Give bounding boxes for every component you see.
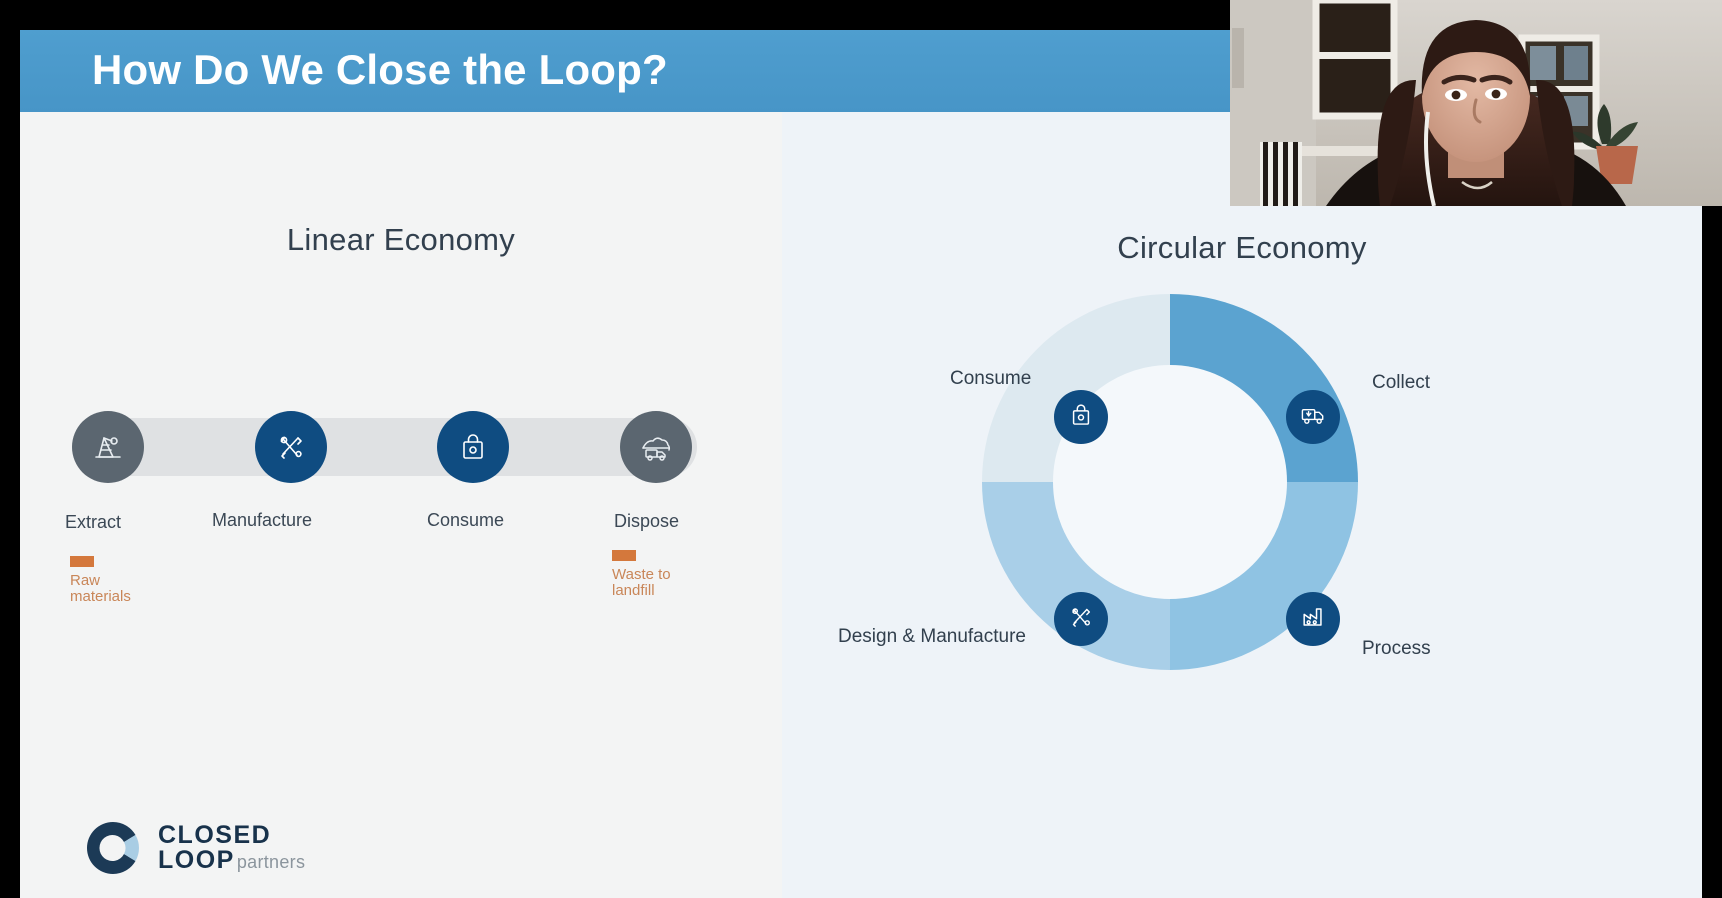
annotation-swatch [70, 556, 94, 567]
linear-economy-heading: Linear Economy [20, 222, 782, 258]
stage-node-extract[interactable] [72, 411, 144, 483]
ring-label-consume: Consume [950, 368, 1031, 390]
tools-icon [273, 429, 309, 465]
annotation-swatch [612, 550, 636, 561]
logo-line-closed: CLOSED [158, 823, 305, 848]
annotation-raw-materials-text: Raw materials [70, 573, 131, 605]
oil-derrick-icon [90, 429, 126, 465]
logo-wordmark: CLOSED LOOP partners [158, 823, 305, 873]
shopping-bag-icon [456, 430, 490, 464]
linear-economy-panel: Linear Economy [20, 112, 782, 898]
ring-label-design-manufacture: Design & Manufacture [838, 626, 1026, 648]
landfill-truck-icon [637, 428, 675, 466]
linear-flow-track [72, 418, 697, 476]
recycling-truck-icon [1298, 400, 1328, 435]
ring-label-collect: Collect [1372, 372, 1430, 394]
stage-label-consume: Consume [427, 510, 504, 531]
ring-node-process[interactable] [1286, 592, 1340, 646]
closed-loop-c-mark-icon [82, 817, 144, 879]
presenter-video-tile[interactable] [1230, 0, 1722, 206]
factory-icon [1298, 602, 1328, 637]
ring-node-collect[interactable] [1286, 390, 1340, 444]
logo-line-loop: LOOP [158, 848, 235, 873]
shopping-bag-icon [1067, 401, 1095, 434]
annotation-waste-to-landfill-text: Waste to landfill [612, 567, 671, 599]
page-title: How Do We Close the Loop? [92, 46, 668, 94]
logo-line-loop-partners: LOOP partners [158, 848, 305, 873]
circular-economy-heading: Circular Economy [782, 230, 1702, 266]
logo-suffix-partners: partners [237, 853, 305, 871]
stage-label-dispose: Dispose [614, 511, 679, 532]
closed-loop-partners-logo: CLOSED LOOP partners [82, 817, 305, 879]
stage-node-manufacture[interactable] [255, 411, 327, 483]
ring-node-consume[interactable] [1054, 390, 1108, 444]
ring-node-design-manufacture[interactable] [1054, 592, 1108, 646]
circular-economy-panel: Circular Economy [782, 112, 1702, 898]
tools-icon [1066, 602, 1096, 637]
stage-label-manufacture: Manufacture [212, 510, 312, 531]
stage-label-extract: Extract [65, 512, 121, 533]
screen: How Do We Close the Loop? Linear Economy [0, 0, 1722, 898]
annotation-waste-to-landfill: Waste to landfill [612, 550, 671, 599]
annotation-raw-materials: Raw materials [70, 556, 131, 605]
stage-node-consume[interactable] [437, 411, 509, 483]
ring-label-process: Process [1362, 638, 1431, 660]
stage-node-dispose[interactable] [620, 411, 692, 483]
